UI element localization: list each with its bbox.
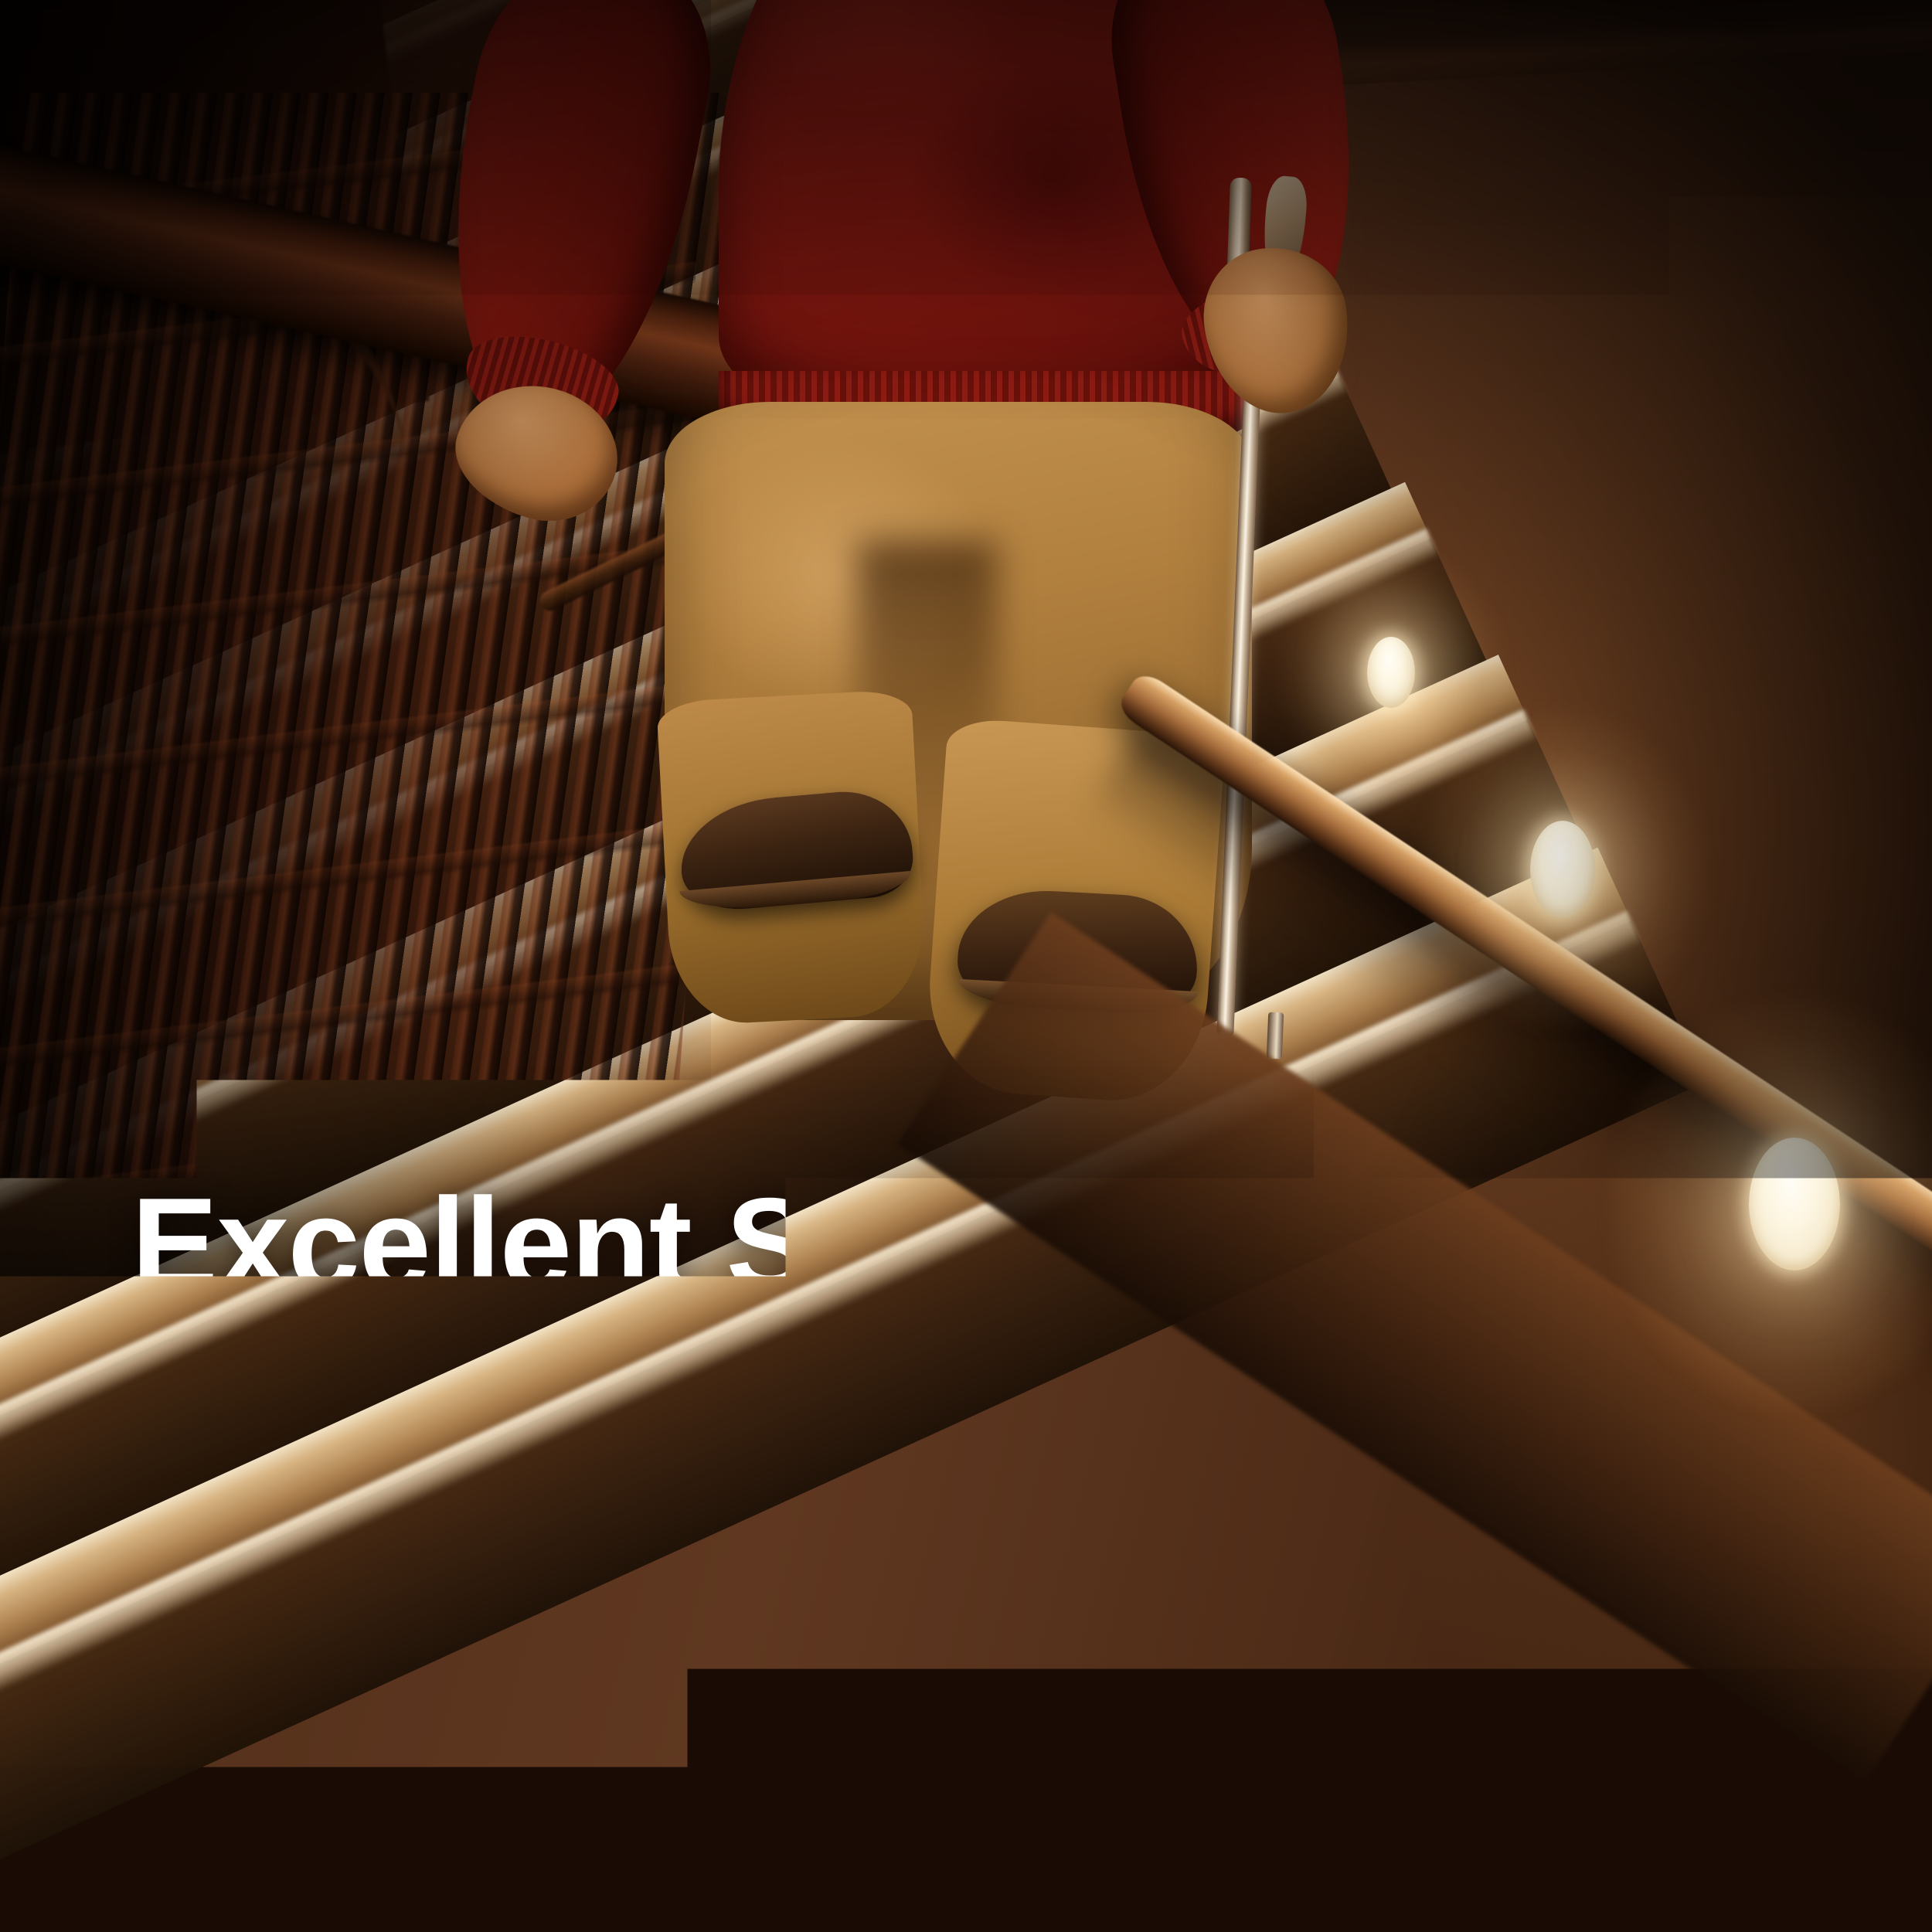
vignette: [0, 0, 1932, 1932]
page-title: Excellent Sensor Sensitivity: [131, 1175, 1291, 1450]
subtitle-line-1: Suitable for families with elderly: [131, 1493, 1291, 1566]
subtitle: Suitable for families with elderly and c…: [131, 1493, 1291, 1640]
headline-line-2: Sensitivity: [131, 1312, 1291, 1450]
copy-block: Excellent Sensor Sensitivity Suitable fo…: [131, 1175, 1291, 1640]
subtitle-line-2: and children: [131, 1566, 1291, 1640]
marketing-image: Excellent Sensor Sensitivity Suitable fo…: [0, 0, 1932, 1932]
headline-line-1: Excellent Sensor: [131, 1175, 1291, 1312]
